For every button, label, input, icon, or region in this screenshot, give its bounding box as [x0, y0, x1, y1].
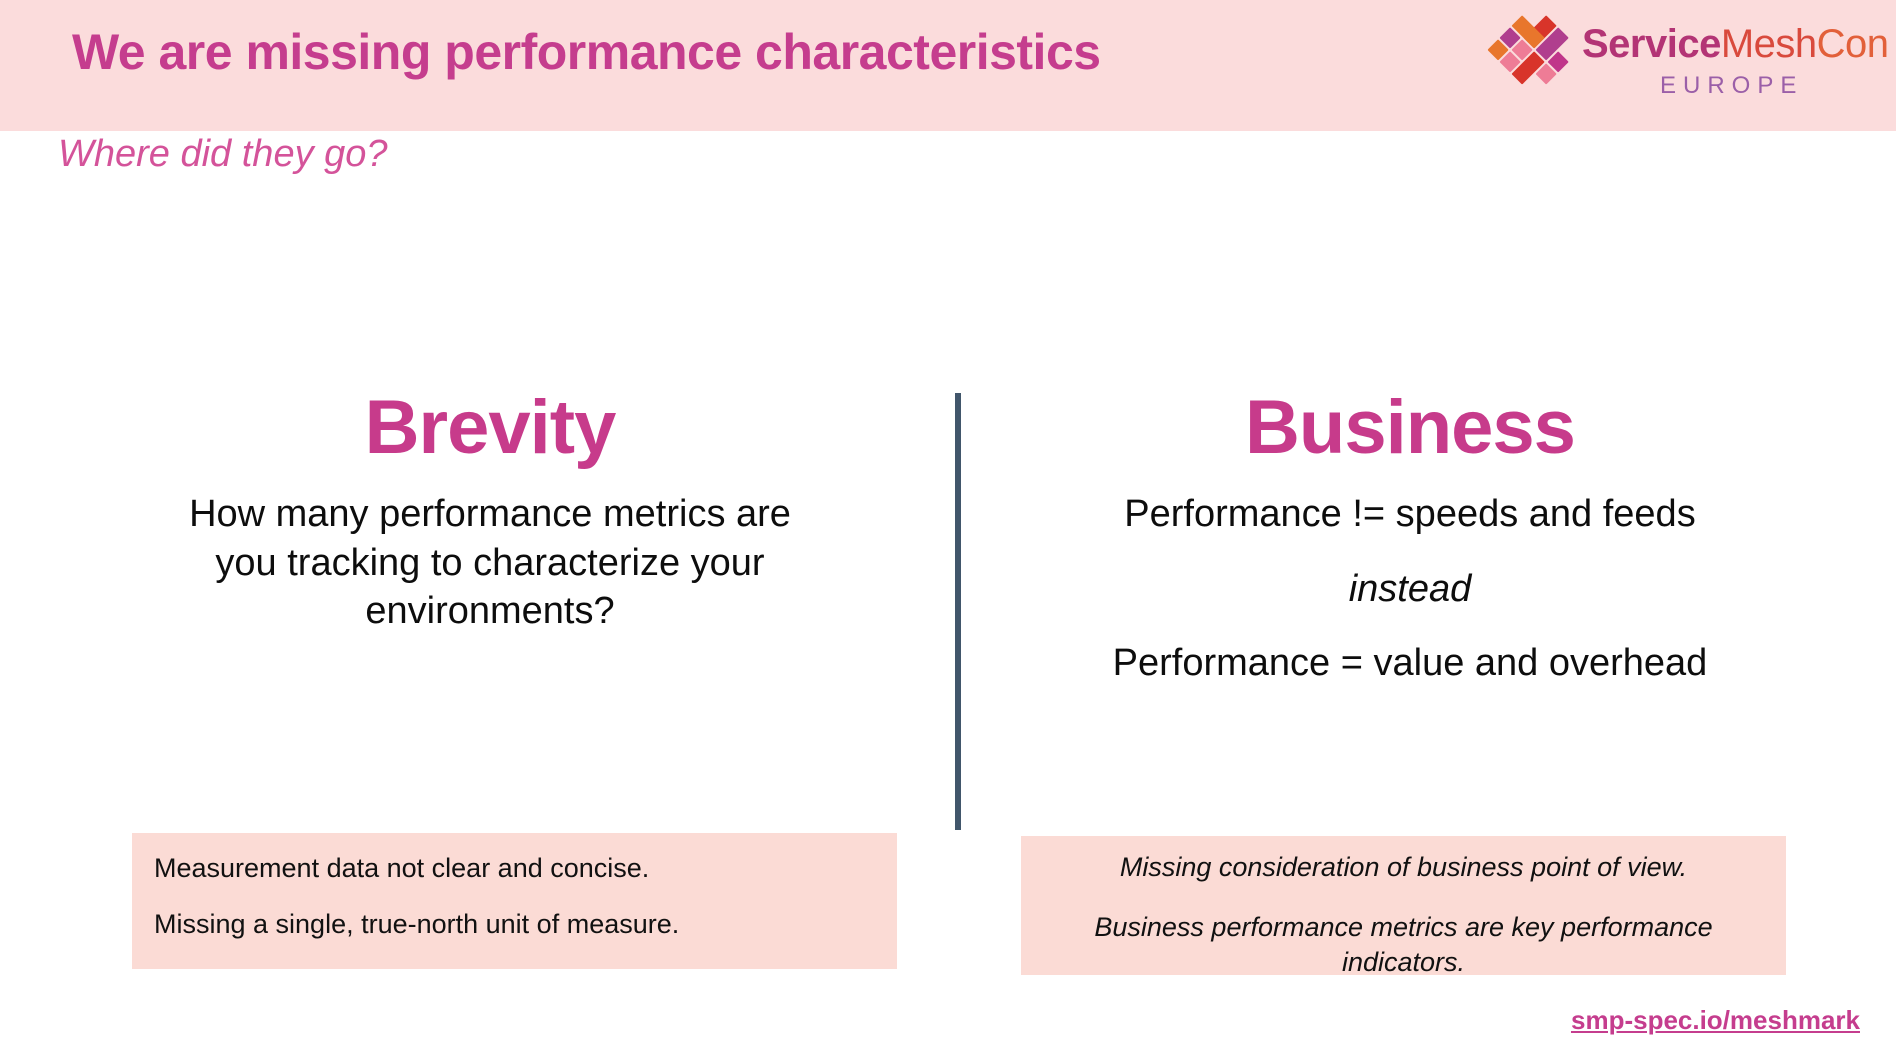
body-line: Performance = value and overhead	[1010, 639, 1810, 688]
column-body-business: Performance != speeds and feeds instead …	[1010, 490, 1810, 688]
callout-line: Missing a single, true-north unit of mea…	[154, 907, 875, 943]
body-line: How many performance metrics are	[110, 490, 870, 539]
body-line: environments?	[110, 587, 870, 636]
body-line: Performance != speeds and feeds	[1010, 490, 1810, 539]
logo-word-con: Con	[1817, 22, 1889, 66]
column-brevity: Brevity How many performance metrics are…	[110, 390, 870, 636]
callout-line: Missing consideration of business point …	[1047, 850, 1760, 886]
logo-wordmark: ServiceMeshCon	[1582, 22, 1889, 67]
body-line-emphasis: instead	[1010, 565, 1810, 614]
slide-subhead: Where did they go?	[58, 133, 388, 176]
body-line: you tracking to characterize your	[110, 539, 870, 588]
callout-line: Measurement data not clear and concise.	[154, 851, 875, 887]
callout-brevity: Measurement data not clear and concise. …	[132, 833, 897, 969]
column-heading-business: Business	[1010, 390, 1810, 466]
column-heading-brevity: Brevity	[110, 390, 870, 466]
logo-word-mesh: Mesh	[1721, 22, 1817, 66]
page-title: We are missing performance characteristi…	[72, 24, 1101, 82]
servicemeshcon-logo: ServiceMeshCon EUROPE	[1478, 6, 1878, 124]
callout-business: Missing consideration of business point …	[1021, 836, 1786, 975]
footer-spec-link[interactable]: smp-spec.io/meshmark	[1571, 1005, 1860, 1036]
logo-word-service: Service	[1582, 22, 1721, 66]
column-body-brevity: How many performance metrics are you tra…	[110, 490, 870, 636]
logo-region-label: EUROPE	[1660, 72, 1803, 100]
callout-line: Business performance metrics are key per…	[1047, 910, 1760, 981]
column-business: Business Performance != speeds and feeds…	[1010, 390, 1810, 688]
column-divider	[955, 393, 961, 830]
mesh-diamond-icon	[1486, 10, 1578, 94]
